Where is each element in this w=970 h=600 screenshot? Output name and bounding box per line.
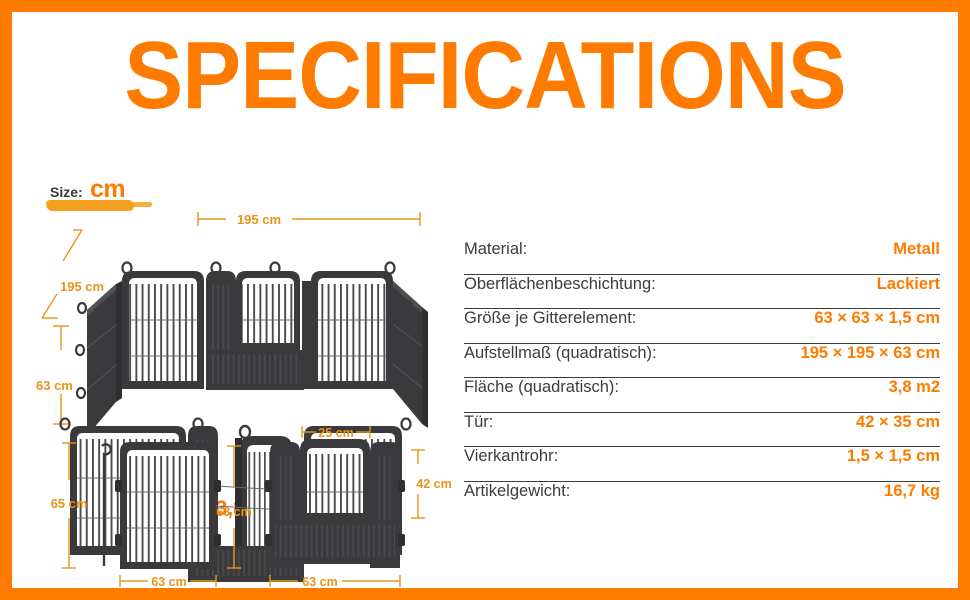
panel-back-left xyxy=(122,271,204,389)
spec-value: 195 × 195 × 63 cm xyxy=(801,344,940,363)
table-row: Tür: 42 × 35 cm xyxy=(464,413,940,448)
table-row: Vierkantrohr: 1,5 × 1,5 cm xyxy=(464,447,940,482)
dim-top-195-label: 195 cm xyxy=(237,212,281,227)
table-row: Artikelgewicht: 16,7 kg xyxy=(464,482,940,517)
spec-label: Fläche (quadratisch): xyxy=(464,378,619,397)
flat-panel-plain xyxy=(115,442,221,569)
spec-label: Oberflächenbeschichtung: xyxy=(464,275,656,294)
ring-br xyxy=(386,263,395,274)
table-row: Größe je Gitterelement: 63 × 63 × 1,5 cm xyxy=(464,309,940,344)
spec-value: 3,8 m2 xyxy=(889,378,940,397)
dim-left-195-label: 195 cm xyxy=(60,279,104,294)
connector-rings-left xyxy=(76,303,86,398)
dim-door-height-42-label: 42 cm xyxy=(416,477,451,491)
spec-label: Material: xyxy=(464,240,527,259)
spec-value: 1,5 × 1,5 cm xyxy=(847,447,940,466)
table-row: Material: Metall xyxy=(464,240,940,275)
dim-left-63-label: 63 cm xyxy=(36,378,73,393)
flat-panel-door xyxy=(265,439,405,568)
dim-stake-65-label: 65 cm xyxy=(51,496,88,511)
specifications-page: SPECIFICATIONS Size: cm xyxy=(0,0,970,600)
panel-left-side xyxy=(87,281,122,436)
table-row: Fläche (quadratisch): 3,8 m2 xyxy=(464,378,940,413)
ring-fr xyxy=(402,419,411,430)
dim-door-width-25-label: 25 cm xyxy=(318,426,353,440)
table-row: Oberflächenbeschichtung: Lackiert xyxy=(464,275,940,310)
spec-value: 42 × 35 cm xyxy=(856,413,940,432)
ring-gate xyxy=(240,426,250,438)
dim-top-195 xyxy=(198,212,420,226)
ring-bl xyxy=(123,263,132,274)
spec-label: Aufstellmaß (quadratisch): xyxy=(464,344,657,363)
dim-panel-height-63-label: 63 cm xyxy=(216,505,251,519)
dim-doorpanel-width-63-label: 63 cm xyxy=(302,575,337,589)
page-title: SPECIFICATIONS xyxy=(50,26,920,126)
spec-value: Lackiert xyxy=(877,275,940,294)
spec-label: Artikelgewicht: xyxy=(464,482,570,501)
spec-label: Größe je Gitterelement: xyxy=(464,309,636,328)
specifications-table: Material: Metall Oberflächenbeschichtung… xyxy=(464,240,940,516)
spec-label: Tür: xyxy=(464,413,493,432)
spec-label: Vierkantrohr: xyxy=(464,447,558,466)
playpen-dimension-diagram: 195 cm 195 cm 63 cm xyxy=(30,198,460,590)
dim-panel-width-63-label: 63 cm xyxy=(151,575,186,589)
table-row: Aufstellmaß (quadratisch): 195 × 195 × 6… xyxy=(464,344,940,379)
spec-value: 63 × 63 × 1,5 cm xyxy=(814,309,940,328)
panel-back-right xyxy=(311,271,393,389)
panel-back-door xyxy=(206,271,311,390)
spec-value: 16,7 kg xyxy=(884,482,940,501)
dim-left-lines xyxy=(42,230,82,424)
spec-value: Metall xyxy=(893,240,940,259)
